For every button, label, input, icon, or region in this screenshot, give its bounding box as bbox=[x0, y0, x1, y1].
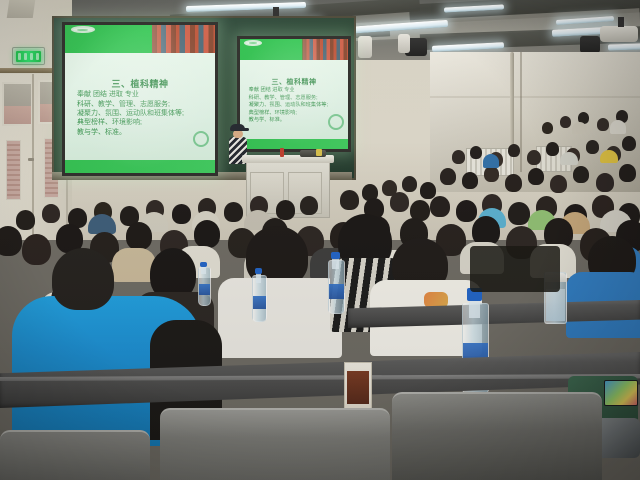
slide-footer-band bbox=[65, 160, 215, 173]
ceiling-fan-icon bbox=[600, 26, 638, 42]
red-marker bbox=[280, 148, 284, 157]
baseball-cap-icon bbox=[230, 124, 245, 131]
university-emblem-icon bbox=[71, 26, 95, 34]
slide-line: 科研、教学、管理、志愿服务; bbox=[249, 96, 342, 101]
slide-line: 典型榜样、环境影响; bbox=[77, 119, 206, 126]
mobile-phone[interactable] bbox=[604, 380, 638, 406]
wall-seam bbox=[520, 52, 522, 172]
air-duct bbox=[7, 0, 36, 18]
water-bottle bbox=[252, 268, 265, 322]
fluorescent-tube-light bbox=[608, 43, 640, 50]
projection-screen-right: 三、植科精神 奉献 团结 进取 专业 科研、教学、管理、志愿服务; 凝聚力、氛围… bbox=[237, 36, 351, 152]
slide-bullet-list: 奉献 团结 进取 专业 科研、教学、管理、志愿服务; 凝聚力、氛围、运动队和班集… bbox=[77, 91, 206, 136]
slide-watermark-icon bbox=[193, 131, 209, 147]
lectern-control-panel[interactable] bbox=[300, 150, 326, 157]
slide-body: 三、植科精神 奉献 团结 进取 专业 科研、教学、管理、志愿服务; 凝聚力、氛围… bbox=[240, 60, 348, 139]
auditorium-seat-back[interactable] bbox=[392, 392, 602, 480]
wall-conduit-pipe bbox=[510, 52, 514, 152]
yellow-object bbox=[316, 149, 322, 156]
wall-seam bbox=[430, 96, 640, 98]
slide-line: 典型榜样、环境影响; bbox=[249, 111, 342, 116]
water-bottle bbox=[198, 262, 209, 306]
slide-line: 科研、教学、管理、志愿服务; bbox=[77, 101, 206, 108]
lecture-hall-photo: 三、植科精神 奉献 团结 进取 专业 科研、教学、管理、志愿服务; 凝聚力、氛围… bbox=[0, 0, 640, 480]
photo-strip-banner bbox=[152, 25, 215, 53]
speaker-face bbox=[233, 130, 243, 138]
door-panel bbox=[6, 140, 21, 200]
projection-screen-left: 三、植科精神 奉献 团结 进取 专业 科研、教学、管理、志愿服务; 凝聚力、氛围… bbox=[62, 22, 218, 176]
water-bottle bbox=[328, 252, 343, 314]
auditorium-seat-back[interactable] bbox=[0, 430, 150, 480]
slide-watermark-icon bbox=[328, 114, 344, 130]
slide-line: 奉献 团结 进取 专业 bbox=[249, 88, 342, 93]
slide-line: 教与学、标准。 bbox=[77, 129, 206, 136]
exit-sign-icon bbox=[16, 51, 41, 62]
slide-line: 奉献 团结 进取 专业 bbox=[77, 91, 206, 98]
wall-speaker-icon bbox=[358, 36, 372, 58]
hanging-speaker-icon bbox=[580, 36, 600, 53]
auditorium-seat-back[interactable] bbox=[160, 408, 390, 480]
desk-shadow bbox=[470, 246, 560, 292]
slide-footer-band bbox=[240, 139, 348, 149]
slide-body: 三、植科精神 奉献 团结 进取 专业 科研、教学、管理、志愿服务; 凝聚力、氛围… bbox=[65, 53, 215, 160]
door-handle[interactable] bbox=[28, 158, 34, 161]
tshirt-graphic bbox=[424, 292, 448, 308]
door-window bbox=[2, 82, 33, 126]
slide-header-band bbox=[65, 25, 215, 53]
slide-line: 凝聚力、氛围、运动队和班集体等; bbox=[249, 103, 342, 108]
university-emblem-icon bbox=[244, 40, 262, 47]
shoe bbox=[596, 418, 640, 458]
photo-strip-banner bbox=[303, 39, 348, 60]
slide-line: 凝聚力、氛围、运动队和班集体等; bbox=[77, 110, 206, 117]
wall-speaker-icon bbox=[398, 34, 410, 53]
slide-title: 三、植科精神 bbox=[240, 77, 348, 87]
slide-title: 三、植科精神 bbox=[65, 77, 215, 90]
exit-sign bbox=[12, 47, 45, 65]
slide-header-band bbox=[240, 39, 348, 60]
